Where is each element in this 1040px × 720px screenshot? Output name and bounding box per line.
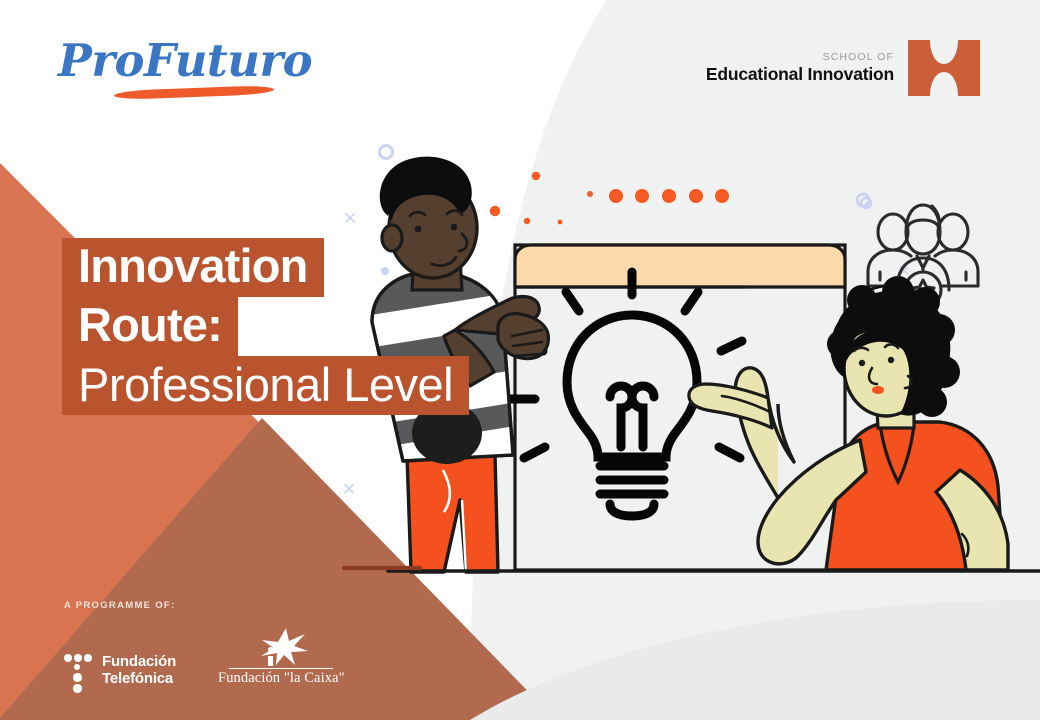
orange-accent-dots: [490, 172, 593, 225]
la-caixa-wordmark: Fundación "la Caixa": [218, 670, 345, 687]
fundacion-telefonica-logo[interactable]: Fundación Telefónica: [64, 654, 176, 688]
dot-row: [609, 189, 729, 203]
programme-of-label: A PROGRAMME OF:: [64, 600, 345, 611]
title-line-3: Professional Level: [62, 356, 469, 416]
telefonica-wordmark: Fundación Telefónica: [102, 654, 176, 688]
telefonica-line-1: Fundación: [102, 654, 176, 671]
la-caixa-rule: [229, 668, 333, 669]
telefonica-line-2: Telefónica: [102, 671, 176, 688]
telefonica-dots-icon: [64, 654, 93, 687]
svg-text:✕: ✕: [343, 209, 357, 228]
partner-logos: Fundación Telefónica Fundación "la Caixa…: [64, 627, 345, 687]
title-line-2: Route:: [62, 297, 238, 356]
title-line-1: Innovation: [62, 238, 324, 297]
footer-credits: A PROGRAMME OF: Fundación Telefónica: [64, 600, 345, 687]
svg-text:✕: ✕: [342, 480, 356, 499]
page-title: Innovation Route: Professional Level: [62, 238, 469, 415]
fundacion-la-caixa-logo[interactable]: Fundación "la Caixa": [218, 627, 345, 687]
la-caixa-star-icon: [253, 627, 309, 667]
poster-canvas: ProFuturo SCHOOL OF Educational Innovati…: [0, 0, 1040, 720]
